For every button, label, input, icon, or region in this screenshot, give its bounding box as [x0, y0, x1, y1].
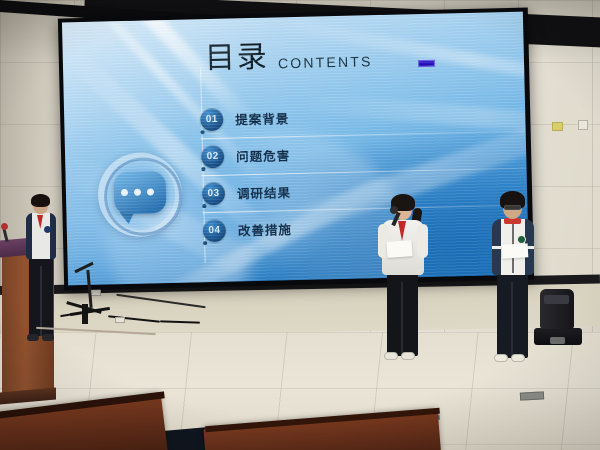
person-shoe-right	[42, 334, 54, 341]
toc-item-number: 03	[202, 182, 226, 206]
person-shoe-right	[401, 352, 415, 360]
slide-title-en: CONTENTS	[278, 54, 373, 70]
toc-bullet-icon	[201, 130, 205, 134]
person-glasses-icon	[504, 205, 521, 210]
person-sleeve-right	[417, 224, 428, 258]
right-presenter-person	[488, 194, 538, 366]
person-shoe-left	[384, 352, 398, 360]
person-leg-split	[511, 282, 513, 358]
toc-item-label: 改善措施	[238, 219, 292, 239]
toc-item: 04 改善措施	[184, 206, 485, 250]
presentation-room-photo: 目录 CONTENTS 01 提案背景 02 问题危害	[0, 0, 600, 450]
toc-item-number: 02	[201, 145, 225, 169]
microphone-stand	[64, 280, 120, 328]
chat-bubble-icon	[93, 148, 187, 242]
wall-sticker	[552, 122, 563, 131]
stage-light-lens	[544, 295, 569, 304]
person-paper-notes	[502, 243, 529, 258]
podium-speaker-person	[24, 196, 58, 346]
toc-item-label: 问题危害	[236, 145, 290, 165]
floor-cable-box	[115, 317, 125, 323]
slide-title: 目录 CONTENTS	[205, 40, 373, 74]
person-shoe-left	[494, 354, 508, 362]
podium-microphone-head-icon	[1, 223, 8, 230]
toc-bullet-icon	[203, 241, 207, 245]
center-presenter-person	[378, 196, 428, 366]
slide-title-cn: 目录	[205, 43, 270, 74]
toc-item-number: 04	[203, 219, 227, 243]
person-paper-notes	[386, 240, 412, 258]
chat-bubble-dots	[121, 188, 154, 196]
stage-light-foot	[550, 337, 565, 344]
wall-outlet-right	[578, 120, 588, 130]
floor-vent	[520, 391, 544, 400]
led-wall-screen[interactable]: 目录 CONTENTS 01 提案背景 02 问题危害	[58, 8, 534, 291]
slide-title-accent-badge	[418, 60, 435, 67]
slide-toc-list: 01 提案背景 02 问题危害 03 调研结果	[182, 95, 485, 250]
stage-moving-head-light	[534, 289, 582, 351]
person-shoe-left	[27, 334, 39, 341]
toc-item-number: 01	[200, 108, 224, 132]
toc-bullet-icon	[201, 167, 205, 171]
person-leg-split	[40, 266, 42, 336]
person-school-emblem	[44, 226, 51, 233]
toc-item-label: 提案背景	[235, 108, 289, 128]
person-hair	[31, 194, 50, 207]
handheld-microphone-head-icon	[390, 206, 398, 214]
person-leg-split	[401, 282, 403, 356]
person-sleeve-stripe-left	[492, 246, 501, 249]
person-shoe-right	[511, 354, 525, 362]
mic-stand-leg	[82, 304, 88, 324]
toc-bullet-icon	[202, 204, 206, 208]
toc-item-label: 调研结果	[237, 182, 291, 202]
slide-canvas: 目录 CONTENTS 01 提案背景 02 问题危害	[62, 12, 529, 286]
